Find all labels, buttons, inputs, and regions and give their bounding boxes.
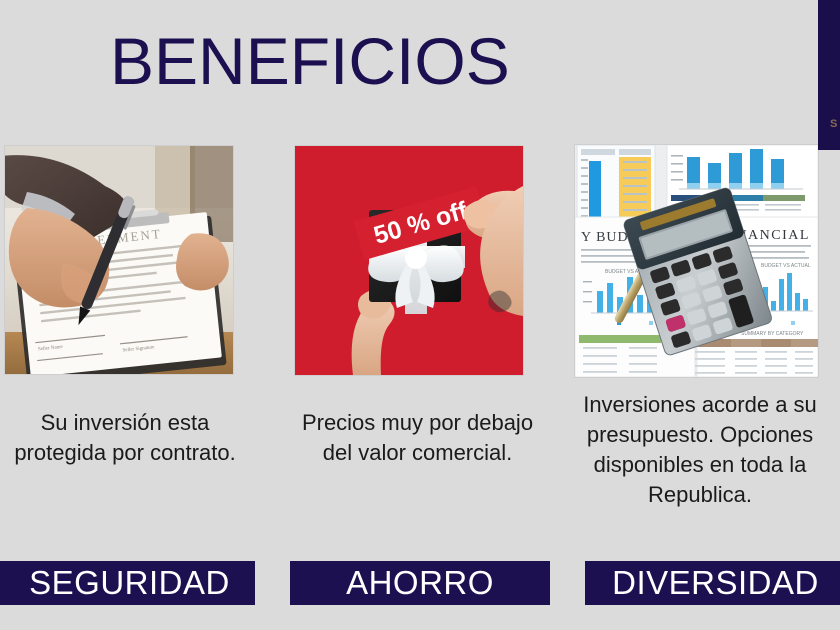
column-diversidad: Y BUDGET BUDGET VS ACTUAL <box>560 0 840 630</box>
gift-discount-illustration: 50 % off <box>295 146 523 375</box>
banner-label-seguridad: SEGURIDAD <box>29 566 230 600</box>
financial-reports-illustration: Y BUDGET BUDGET VS ACTUAL <box>575 145 818 377</box>
caption-diversidad: Inversiones acorde a su presupuesto. Opc… <box>560 390 840 510</box>
svg-text:BUDGET VS ACTUAL: BUDGET VS ACTUAL <box>761 263 811 269</box>
banner-diversidad[interactable]: DIVERSIDAD <box>585 561 840 605</box>
svg-text:SUMMARY BY CATEGORY: SUMMARY BY CATEGORY <box>741 331 804 337</box>
agreement-signing-illustration: AGREEMENT <box>5 146 233 374</box>
photo-gift-discount: 50 % off <box>295 146 523 375</box>
caption-ahorro: Precios muy por debajo del valor comerci… <box>285 408 550 468</box>
slide-canvas: S BENEFICIOS <box>0 0 840 630</box>
banner-ahorro[interactable]: AHORRO <box>290 561 550 605</box>
banner-label-ahorro: AHORRO <box>346 566 494 600</box>
banner-label-diversidad: DIVERSIDAD <box>612 566 819 600</box>
caption-seguridad: Su inversión esta protegida por contrato… <box>0 408 250 468</box>
column-seguridad: AGREEMENT <box>0 0 255 630</box>
banner-seguridad[interactable]: SEGURIDAD <box>0 561 255 605</box>
photo-financial-reports: Y BUDGET BUDGET VS ACTUAL <box>575 145 818 377</box>
column-ahorro: 50 % off Precios muy por debajo del valo… <box>285 0 550 630</box>
photo-agreement-signing: AGREEMENT <box>5 146 233 374</box>
